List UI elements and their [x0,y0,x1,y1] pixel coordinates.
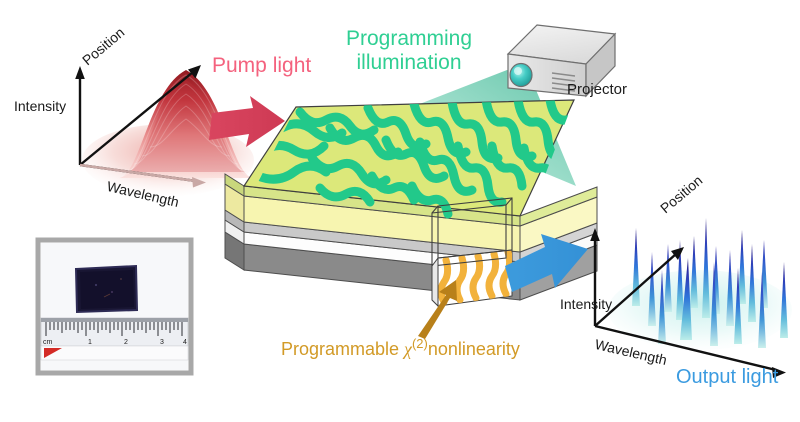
programming-illumination-label: Programming illumination [346,27,472,74]
output-light-label: Output light [676,366,778,388]
chi-symbol: χ [404,339,412,359]
chip-sample [76,266,137,312]
nonlinearity-suffix: nonlinearity [428,339,520,359]
chip-cutaway-side-wall [432,258,438,306]
nonlinearity-label: Programmable χ(2)nonlinearity [281,337,520,359]
ruler-label-4: 4 [183,339,187,346]
ruler-label-cm: cm [43,339,53,346]
pump-light-label: Pump light [212,54,311,78]
ruler-label-3: 3 [160,339,164,346]
nonlinearity-prefix: Programmable [281,339,404,359]
ruler-label-2: 2 [124,339,128,346]
left-axis-intensity-arrowhead [75,66,85,79]
projector-label: Projector [567,82,627,99]
inset-chip-photo: cm 1 2 3 4 [38,240,191,373]
right-axis-label-intensity: Intensity [560,296,612,312]
programming-illumination-line2: illumination [346,51,472,75]
chi-superscript: (2) [412,336,428,351]
figure-root: cm 1 2 3 4 Pump light Programming illumi… [0,0,800,422]
ruler-label-1: 1 [88,339,92,346]
left-axis-label-intensity: Intensity [14,98,66,114]
projector-lens-highlight [514,67,522,75]
programming-illumination-line1: Programming [346,27,472,51]
projector-lens [510,64,532,87]
